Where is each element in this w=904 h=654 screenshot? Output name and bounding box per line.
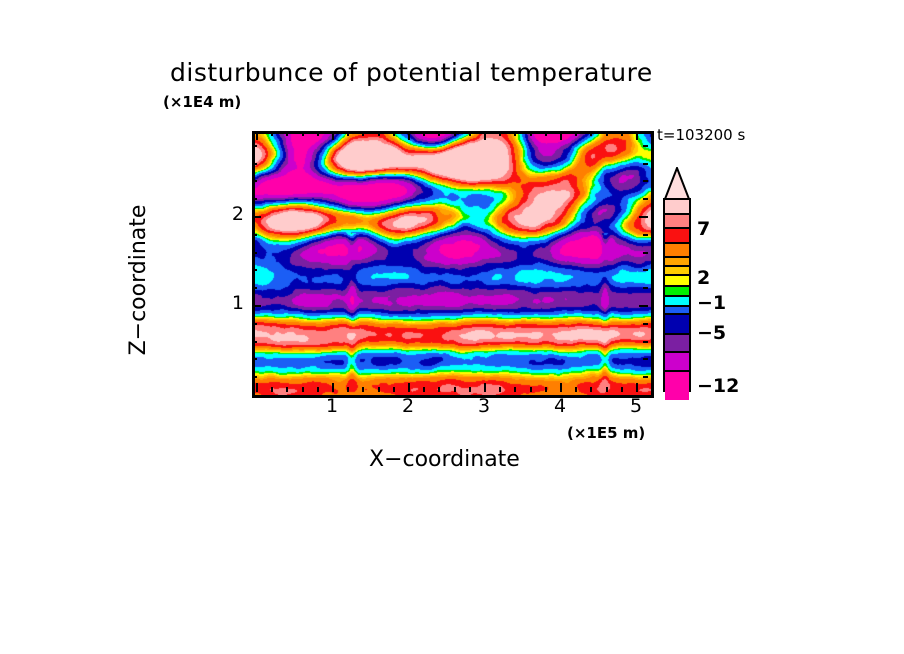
x-tick-label: 4	[545, 395, 575, 417]
x-minor-tick	[575, 387, 577, 392]
x-minor-tick	[606, 387, 608, 392]
x-minor-tick	[423, 387, 425, 392]
y-major-tick-right	[639, 216, 648, 218]
x-axis-title: X−coordinate	[369, 447, 520, 472]
colorbar-tick-label: −1	[697, 292, 726, 314]
y-minor-tick	[252, 163, 257, 165]
y-minor-tick	[252, 323, 257, 325]
x-minor-tick-top	[302, 131, 304, 136]
x-major-tick-top	[256, 131, 258, 140]
colorbar-arrow-icon	[663, 167, 691, 200]
colorbar-band	[665, 353, 689, 372]
colorbar-tick-label: 7	[697, 218, 710, 240]
y-minor-tick-right	[643, 163, 648, 165]
colorbar-tick-label: −12	[697, 375, 739, 397]
x-axis-unit-label: (×1E5 m)	[567, 424, 645, 442]
y-minor-tick-right	[643, 180, 648, 182]
y-minor-tick	[252, 358, 257, 360]
y-minor-tick-right	[643, 358, 648, 360]
colorbar-band	[665, 244, 689, 258]
y-major-tick	[252, 305, 261, 307]
x-minor-tick-top	[545, 131, 547, 136]
z-axis-unit-label: (×1E4 m)	[163, 93, 241, 111]
x-major-tick-top	[408, 131, 410, 140]
plot-area	[252, 131, 654, 398]
x-minor-tick-top	[499, 131, 501, 136]
y-minor-tick-right	[643, 341, 648, 343]
x-minor-tick	[514, 387, 516, 392]
y-minor-tick-right	[643, 145, 648, 147]
x-minor-tick	[317, 387, 319, 392]
y-minor-tick	[252, 234, 257, 236]
y-major-tick-right	[639, 305, 648, 307]
x-major-tick-top	[484, 131, 486, 140]
contour-figure: disturbunce of potential temperature (×1…	[0, 0, 904, 654]
colorbar-band	[665, 372, 689, 400]
y-minor-tick-right	[643, 252, 648, 254]
colorbar-band	[665, 215, 689, 229]
x-major-tick	[408, 383, 410, 392]
y-minor-tick-right	[643, 234, 648, 236]
y-axis-title: Z−coordinate	[126, 165, 151, 395]
colorbar-band	[665, 315, 689, 335]
y-tick-label: 2	[218, 203, 244, 225]
y-major-tick	[252, 216, 261, 218]
x-minor-tick-top	[271, 131, 273, 136]
x-minor-tick	[469, 387, 471, 392]
time-annotation: t=103200 s	[657, 126, 745, 144]
x-minor-tick	[271, 387, 273, 392]
y-minor-tick-right	[643, 269, 648, 271]
x-major-tick-top	[636, 131, 638, 140]
colorbar-band	[665, 200, 689, 215]
x-minor-tick	[378, 387, 380, 392]
x-minor-tick	[590, 387, 592, 392]
x-minor-tick-top	[378, 131, 380, 136]
colorbar-band	[665, 267, 689, 276]
colorbar-band	[665, 229, 689, 244]
x-minor-tick-top	[606, 131, 608, 136]
x-minor-tick-top	[514, 131, 516, 136]
x-minor-tick-top	[438, 131, 440, 136]
x-minor-tick	[286, 387, 288, 392]
colorbar	[663, 198, 691, 392]
y-minor-tick	[252, 287, 257, 289]
x-minor-tick	[499, 387, 501, 392]
x-minor-tick-top	[393, 131, 395, 136]
x-tick-label: 3	[469, 395, 499, 417]
x-major-tick	[636, 383, 638, 392]
colorbar-tick-label: 2	[697, 267, 710, 289]
colorbar-band	[665, 276, 689, 287]
x-major-tick	[560, 383, 562, 392]
x-tick-label: 1	[317, 395, 347, 417]
x-minor-tick	[347, 387, 349, 392]
colorbar-band	[665, 297, 689, 307]
y-minor-tick	[252, 145, 257, 147]
x-major-tick-top	[332, 131, 334, 140]
x-minor-tick-top	[347, 131, 349, 136]
colorbar-band	[665, 258, 689, 267]
x-minor-tick-top	[423, 131, 425, 136]
colorbar-band	[665, 307, 689, 315]
y-minor-tick	[252, 198, 257, 200]
y-minor-tick	[252, 376, 257, 378]
x-minor-tick-top	[286, 131, 288, 136]
y-minor-tick	[252, 252, 257, 254]
x-minor-tick-top	[575, 131, 577, 136]
x-major-tick	[332, 383, 334, 392]
x-minor-tick-top	[530, 131, 532, 136]
x-tick-label: 2	[393, 395, 423, 417]
y-tick-label: 1	[218, 292, 244, 314]
x-minor-tick	[302, 387, 304, 392]
x-minor-tick-top	[590, 131, 592, 136]
colorbar-band	[665, 287, 689, 297]
x-minor-tick	[545, 387, 547, 392]
x-minor-tick	[362, 387, 364, 392]
y-minor-tick-right	[643, 287, 648, 289]
y-minor-tick	[252, 341, 257, 343]
x-minor-tick	[454, 387, 456, 392]
x-major-tick-top	[560, 131, 562, 140]
x-major-tick	[484, 383, 486, 392]
x-major-tick	[256, 383, 258, 392]
x-minor-tick	[621, 387, 623, 392]
x-minor-tick-top	[454, 131, 456, 136]
colorbar-band	[665, 335, 689, 353]
colorbar-tick-label: −5	[697, 322, 726, 344]
y-minor-tick-right	[643, 198, 648, 200]
y-minor-tick	[252, 180, 257, 182]
x-minor-tick	[393, 387, 395, 392]
x-minor-tick-top	[362, 131, 364, 136]
y-minor-tick-right	[643, 376, 648, 378]
x-minor-tick-top	[621, 131, 623, 136]
y-minor-tick	[252, 269, 257, 271]
x-minor-tick-top	[469, 131, 471, 136]
x-minor-tick	[530, 387, 532, 392]
x-tick-label: 5	[621, 395, 651, 417]
page-title: disturbunce of potential temperature	[170, 58, 770, 87]
x-minor-tick-top	[317, 131, 319, 136]
heatmap-canvas	[255, 134, 651, 395]
y-minor-tick-right	[643, 323, 648, 325]
x-minor-tick	[438, 387, 440, 392]
